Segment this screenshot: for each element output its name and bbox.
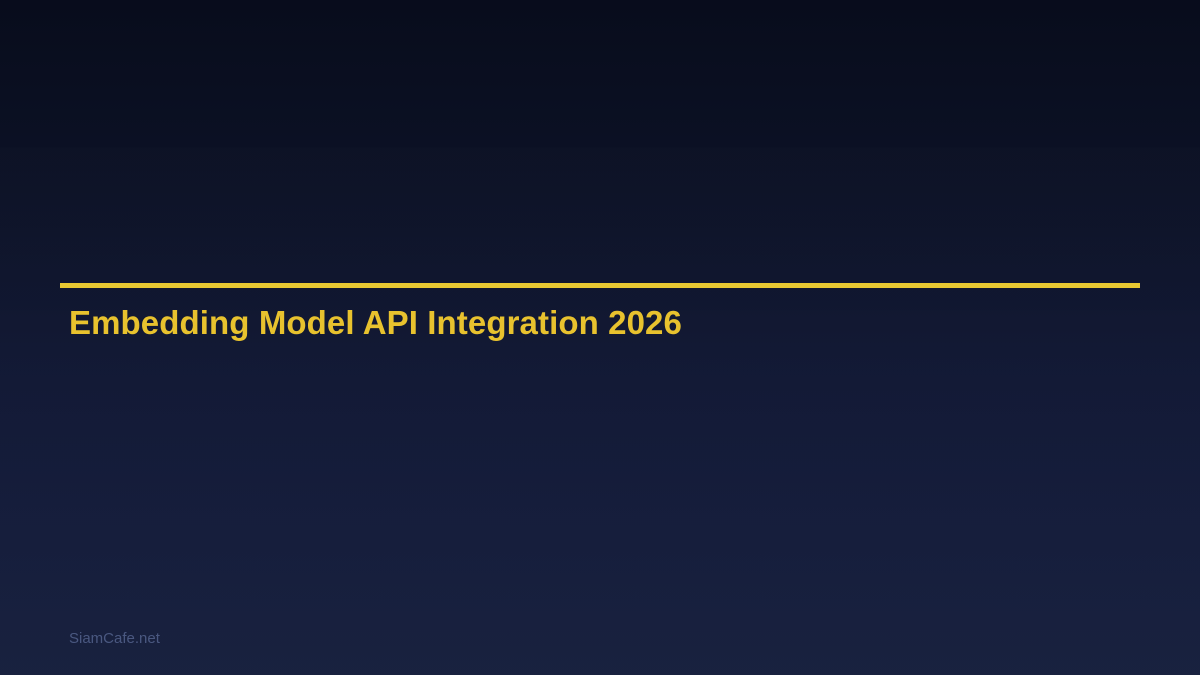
slide-footer: SiamCafe.net <box>69 630 160 648</box>
presentation-slide: Embedding Model API Integration 2026 Sia… <box>0 0 1200 675</box>
slide-title-block: Embedding Model API Integration 2026 <box>60 283 1140 288</box>
footer-brand-label: SiamCafe.net <box>69 630 160 647</box>
page-title: Embedding Model API Integration 2026 <box>69 306 682 339</box>
accent-divider <box>60 283 1140 288</box>
